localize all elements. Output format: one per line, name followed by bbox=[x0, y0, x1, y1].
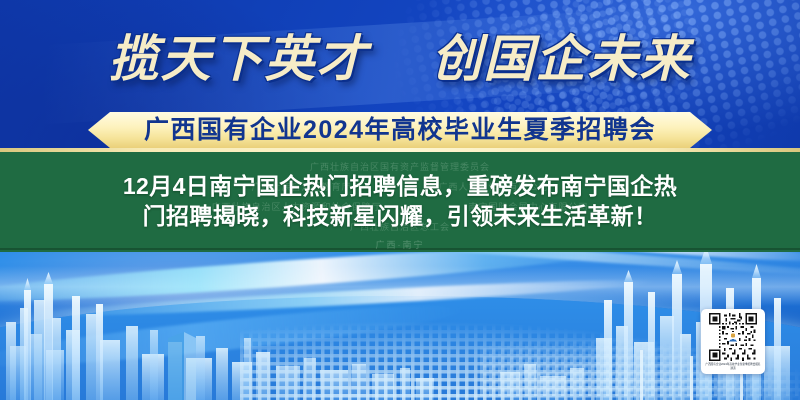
qr-code-caption: 广西国有企业2024年高校毕业生夏季招聘会报名通道 bbox=[705, 363, 761, 371]
article-headline-line-2: 门招聘揭晓，科技新星闪耀，引领未来生活革新！ bbox=[143, 204, 658, 230]
banner-ribbon: 广西国有企业2024年高校毕业生夏季招聘会 bbox=[88, 112, 712, 148]
poster-image: 揽天下英才 创国企未来 广西国有企业2024年高校毕业生夏季招聘会 bbox=[0, 0, 800, 400]
qr-code-card[interactable]: 广西国有企业2024年高校毕业生夏季招聘会报名通道 bbox=[701, 309, 765, 374]
qr-code-icon[interactable] bbox=[709, 313, 757, 361]
article-headline: 12月4日南宁国企热门招聘信息，重磅发布南宁国企热 门招聘揭晓，科技新星闪耀，引… bbox=[0, 152, 800, 252]
article-headline-line-1: 12月4日南宁国企热门招聘信息，重磅发布南宁国企热 bbox=[123, 174, 677, 200]
banner-headline: 揽天下英才 创国企未来 bbox=[0, 34, 800, 84]
article-title-overlay: 广西壮族自治区国有资产监督管理委员会 广西壮族自治区教育厅 广西人才网信息有限公… bbox=[0, 152, 800, 252]
recruitment-banner: 揽天下英才 创国企未来 广西国有企业2024年高校毕业生夏季招聘会 bbox=[0, 0, 800, 152]
banner-ribbon-label: 广西国有企业2024年高校毕业生夏季招聘会 bbox=[88, 112, 712, 148]
event-location-label: 广西·南宁 bbox=[0, 238, 800, 251]
curved-ground-plane bbox=[0, 296, 800, 400]
headline-right-phrase: 创国企未来 bbox=[432, 31, 692, 87]
headline-left-phrase: 揽天下英才 bbox=[109, 31, 369, 87]
